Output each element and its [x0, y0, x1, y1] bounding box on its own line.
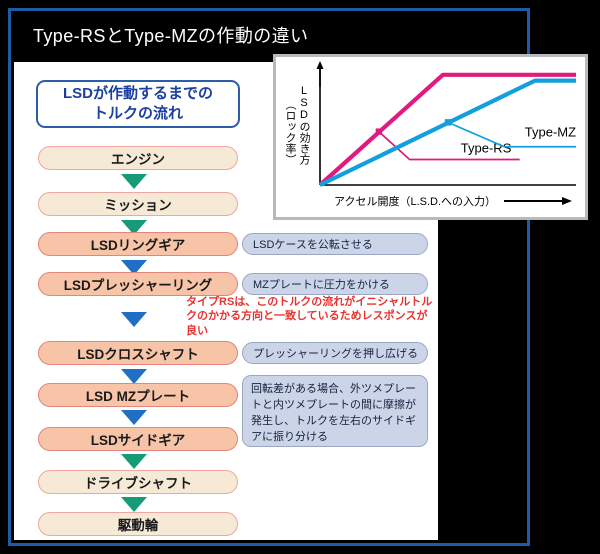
flow-arrow-8: [121, 497, 147, 512]
annotation-ring-gear: LSDケースを公転させる: [242, 233, 428, 255]
flow-heading-line2: トルクの流れ: [93, 104, 183, 124]
background-strip-bottom: [0, 546, 600, 554]
chart-series-layer: Type-RSType-MZ: [320, 75, 576, 185]
annotation-pressure-ring: MZプレートに圧力をかける: [242, 273, 428, 295]
chart-x-axis-label: アクセル開度（L.S.D.への入力）: [334, 194, 496, 208]
chart-x-direction-arrow-head: [562, 197, 572, 205]
chart-y-axis-label-sub: （ロック率）: [284, 99, 295, 165]
chart-marker-type-mz: [445, 119, 451, 125]
chart-marker-type-rs: [376, 128, 382, 134]
background-strip-top: [0, 0, 600, 8]
flow-node-mission[interactable]: ミッション: [38, 192, 238, 216]
flow-arrow-7: [121, 454, 147, 469]
flow-node-lsd-side-gear[interactable]: LSDサイドギア: [38, 427, 238, 451]
annotation-mz-plate-box: 回転差がある場合、外ツメプレートと内ツメプレートの間に摩擦が発生し、トルクを左右…: [242, 375, 428, 447]
lsd-lock-rate-chart: Type-RSType-MZ アクセル開度（L.S.D.への入力） LSDの効き…: [273, 54, 588, 220]
flow-node-drive-wheel[interactable]: 駆動輪: [38, 512, 238, 536]
chart-legend-type-mz: Type-MZ: [525, 124, 576, 139]
flow-node-engine[interactable]: エンジン: [38, 146, 238, 170]
flow-node-lsd-ring-gear[interactable]: LSDリングギア: [38, 232, 238, 256]
annotation-red-note: タイプRSは、このトルクの流れがイニシャルトルクのかかる方向と一致しているためレ…: [186, 295, 438, 338]
flow-heading-line1: LSDが作動するまでの: [63, 84, 213, 104]
annotation-cross-shaft: プレッシャーリングを押し広げる: [242, 342, 428, 364]
flow-arrow-1: [121, 174, 147, 189]
flow-node-lsd-mz-plate[interactable]: LSD MZプレート: [38, 383, 238, 407]
chart-legend-type-rs: Type-RS: [461, 141, 512, 156]
chart-y-axis-arrow: [317, 61, 324, 69]
chart-svg: Type-RSType-MZ アクセル開度（L.S.D.への入力）: [276, 57, 585, 217]
flow-arrow-5: [121, 369, 147, 384]
flow-arrow-6: [121, 410, 147, 425]
flow-node-drive-shaft[interactable]: ドライブシャフト: [38, 470, 238, 494]
flow-node-lsd-cross-shaft[interactable]: LSDクロスシャフト: [38, 341, 238, 365]
diagram-root: Type-RSとType-MZの作動の違い LSDが作動するまでの トルクの流れ…: [0, 0, 600, 554]
flow-node-lsd-pressure-ring[interactable]: LSDプレッシャーリング: [38, 272, 238, 296]
flow-heading: LSDが作動するまでの トルクの流れ: [36, 80, 240, 128]
page-title: Type-RSとType-MZの作動の違い: [33, 22, 308, 48]
flow-arrow-4: [121, 312, 147, 327]
background-strip-left: [0, 0, 8, 554]
chart-y-axis-label-main: LSDの効き方: [298, 85, 309, 165]
